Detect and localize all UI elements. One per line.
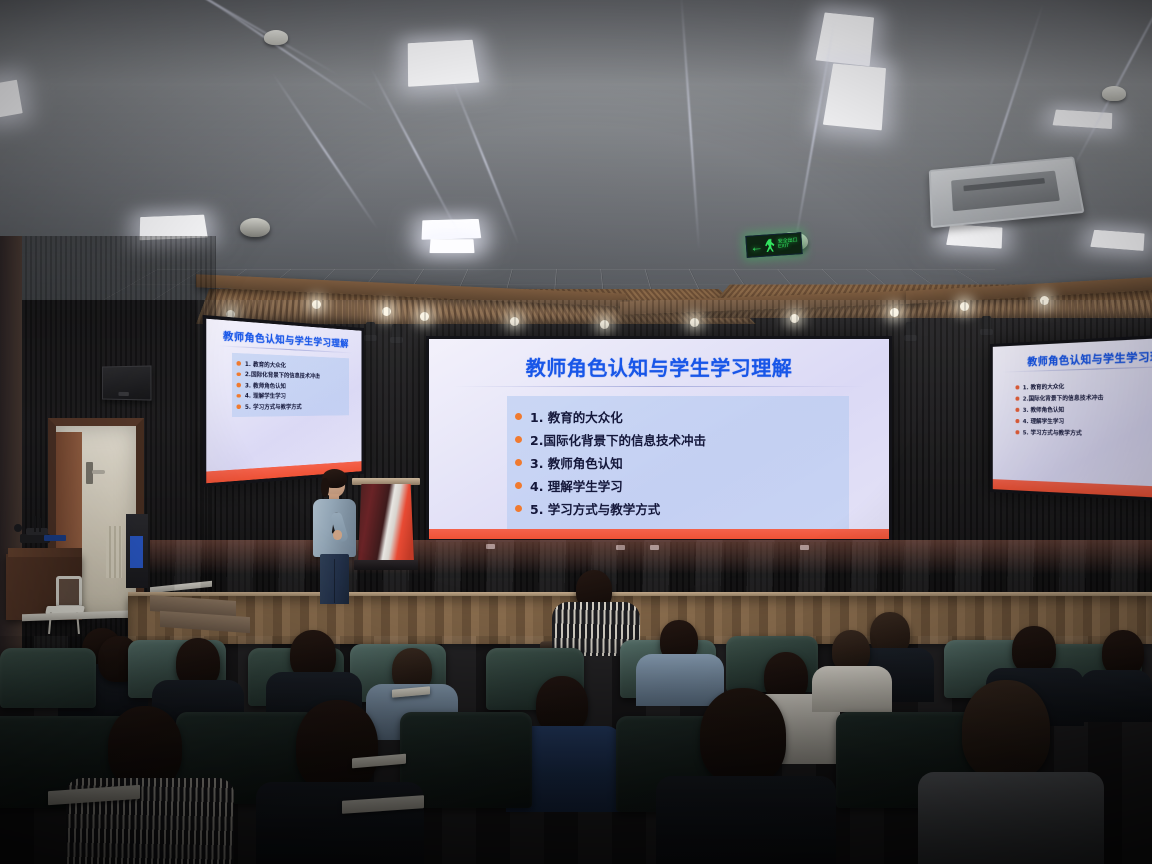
bullet-label: 2.国际化背景下的信息技术冲击 (530, 430, 706, 449)
presenter-hair (321, 478, 329, 497)
bullet-dot-icon (236, 383, 240, 387)
auditorium-seat[interactable] (0, 648, 96, 708)
bullet-label: 5. 学习方式与教学方式 (530, 499, 660, 518)
left-led-screen: 教师角色认知与学生学习理解 1. 教育的大众化 2.国际化背景下的信息技术冲击 … (203, 315, 364, 487)
side-chair (44, 576, 84, 630)
slide-bullet-panel: 1. 教育的大众化 2.国际化背景下的信息技术冲击 3. 教师角色认知 4. 理… (232, 353, 349, 417)
slide-body: 教师角色认知与学生学习理解 1. 教育的大众化 2.国际化背景下的信息技术冲击 … (206, 319, 361, 472)
bullet-item: 1. 教育的大众化 (515, 407, 839, 426)
audience-torso (918, 772, 1104, 864)
bullet-dot-icon (515, 505, 522, 512)
bullet-dot-icon (1015, 397, 1018, 401)
door-handle[interactable] (92, 470, 105, 474)
console-tabletop (8, 548, 82, 557)
bullet-dot-icon (1015, 408, 1018, 412)
bullet-item: 2.国际化背景下的信息技术冲击 (1015, 392, 1152, 403)
bullet-label: 3. 教师角色认知 (245, 381, 286, 389)
bullet-item: 3. 教师角色认知 (515, 453, 839, 472)
bullet-dot-icon (236, 405, 240, 409)
bullet-label: 1. 教育的大众化 (1023, 382, 1065, 391)
bullet-dot-icon (1015, 419, 1018, 423)
bullet-label: 4. 理解学生学习 (245, 392, 286, 400)
microphone-stand-icon (39, 518, 41, 532)
bullet-item: 2.国际化背景下的信息技术冲击 (236, 370, 345, 380)
bullet-dot-icon (236, 372, 240, 376)
right-led-screen: 教师角色认知与学生学习理解 1. 教育的大众化 2.国际化背景下的信息技术冲击 … (990, 332, 1152, 505)
lecture-hall-photo: ← 安全出口 EXIT (0, 0, 1152, 864)
audience-torso (656, 776, 836, 864)
bullet-item: 4. 理解学生学习 (515, 476, 839, 495)
bullet-item: 3. 教师角色认知 (236, 381, 345, 390)
bullet-label: 5. 学习方式与教学方式 (245, 403, 302, 411)
presenter (310, 472, 358, 604)
presenter-trousers (320, 554, 349, 604)
bullet-label: 4. 理解学生学习 (1023, 417, 1065, 425)
bullet-dot-icon (1015, 386, 1018, 390)
bullet-dot-icon (515, 413, 522, 420)
bullet-label: 1. 教育的大众化 (530, 407, 623, 426)
bullet-label: 3. 教师角色认知 (1023, 405, 1065, 414)
slide-surface: 教师角色认知与学生学习理解 1. 教育的大众化 2.国际化背景下的信息技术冲击 … (429, 339, 889, 539)
podium-top (352, 478, 420, 485)
slide-footer-bar (429, 529, 889, 539)
ceiling-panel-light (816, 13, 875, 67)
audience-head (962, 680, 1050, 780)
slide-body: 教师角色认知与学生学习理解 1. 教育的大众化 2.国际化背景下的信息技术冲击 … (429, 339, 889, 529)
audience-head (296, 700, 378, 792)
slide-title: 教师角色认知与学生学习理解 (206, 327, 361, 351)
bullet-dot-icon (236, 394, 240, 398)
bullet-label: 5. 学习方式与教学方式 (1023, 428, 1082, 437)
slide-title: 教师角色认知与学生学习理解 (993, 345, 1152, 370)
emergency-exit-sign: ← 安全出口 EXIT (745, 232, 802, 258)
dome-camera-icon (240, 218, 270, 237)
smoke-detector-icon (264, 30, 288, 45)
slide-title: 教师角色认知与学生学习理解 (429, 352, 889, 381)
av-equipment-blue (44, 535, 66, 541)
podium-body (358, 484, 414, 562)
audience-torso (812, 666, 892, 712)
presenter-hand (333, 530, 342, 540)
bullet-label: 2.国际化背景下的信息技术冲击 (1023, 393, 1104, 403)
bullet-item: 4. 理解学生学习 (1015, 417, 1152, 426)
bullet-dot-icon (236, 361, 240, 365)
audience-torso (1080, 670, 1152, 722)
microphone-stand-icon (34, 516, 36, 532)
exit-sign-label-en: EXIT (778, 243, 790, 250)
ceiling-panel-light (429, 239, 474, 253)
bullet-dot-icon (515, 459, 522, 466)
bullet-label: 4. 理解学生学习 (530, 476, 623, 495)
slide-bullet-panel: 1. 教育的大众化 2.国际化背景下的信息技术冲击 3. 教师角色认知 4. 理… (1012, 373, 1152, 445)
audience-head (1012, 626, 1056, 674)
bullet-item: 5. 学习方式与教学方式 (515, 499, 839, 518)
wall-mounted-speaker (102, 365, 152, 400)
bullet-item: 2.国际化背景下的信息技术冲击 (515, 430, 839, 449)
running-person-icon (765, 238, 777, 252)
audience-torso (636, 654, 724, 706)
av-equipment (26, 528, 48, 535)
corridor-radiator (106, 526, 122, 578)
control-knob[interactable] (14, 524, 22, 532)
audience-head (108, 706, 182, 788)
bullet-item: 1. 教育的大众化 (1015, 380, 1152, 392)
main-projection-screen: 教师角色认知与学生学习理解 1. 教育的大众化 2.国际化背景下的信息技术冲击 … (426, 336, 892, 542)
lectern-podium (358, 478, 414, 570)
slide-bullet-panel: 1. 教育的大众化 2.国际化背景下的信息技术冲击 3. 教师角色认知 4. 理… (507, 396, 849, 529)
stage-screen-glow (150, 540, 1152, 574)
bullet-label: 2.国际化背景下的信息技术冲击 (245, 370, 320, 380)
bullet-item: 5. 学习方式与教学方式 (236, 403, 345, 411)
bullet-dot-icon (515, 436, 522, 443)
audience-head (700, 688, 786, 784)
podium-base (354, 560, 418, 570)
slide-body: 教师角色认知与学生学习理解 1. 教育的大众化 2.国际化背景下的信息技术冲击 … (993, 335, 1152, 489)
ceiling-panel-light (823, 64, 886, 131)
smoke-detector-icon (1102, 86, 1126, 101)
bullet-label: 3. 教师角色认知 (530, 453, 623, 472)
bullet-item: 3. 教师角色认知 (1015, 404, 1152, 413)
bullet-item: 5. 学习方式与教学方式 (1015, 428, 1152, 438)
bullet-label: 1. 教育的大众化 (245, 360, 286, 369)
bullet-dot-icon (1015, 430, 1018, 434)
bullet-dot-icon (515, 482, 522, 489)
audience-torso (256, 782, 424, 864)
title-underline (453, 386, 865, 387)
slide-surface: 教师角色认知与学生学习理解 1. 教育的大众化 2.国际化背景下的信息技术冲击 … (993, 335, 1152, 500)
corridor-cabinet (126, 514, 148, 588)
chair-back (56, 576, 82, 608)
exit-arrow-icon: ← (750, 239, 764, 253)
ceiling-panel-light (408, 40, 480, 87)
bullet-item: 4. 理解学生学习 (236, 392, 345, 400)
ceiling-panel-light (946, 224, 1002, 248)
slide-surface: 教师角色认知与学生学习理解 1. 教育的大众化 2.国际化背景下的信息技术冲击 … (206, 319, 361, 484)
bullet-item: 1. 教育的大众化 (236, 359, 345, 371)
exit-sign-label: 安全出口 EXIT (778, 238, 799, 250)
